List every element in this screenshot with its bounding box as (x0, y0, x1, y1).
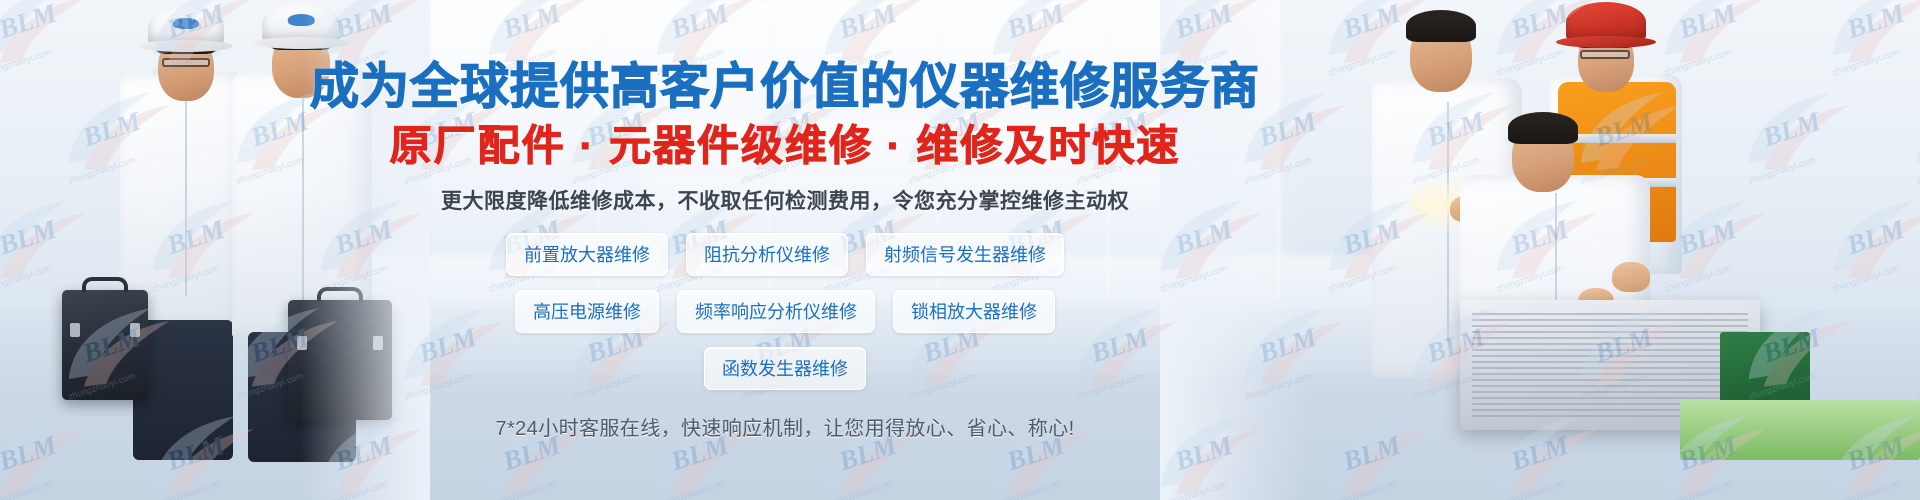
service-tag-chip[interactable]: 频率响应分析仪维修 (677, 290, 875, 333)
case-clasp (70, 323, 80, 337)
promo-banner: BLM zhongzhaoyi.com BLM zhongzhaoyi.com … (0, 0, 1920, 500)
helmet-brim (1556, 36, 1655, 48)
service-tag-chip[interactable]: 高压电源维修 (515, 290, 659, 333)
service-tag-list: 前置放大器维修阻抗分析仪维修射频信号发生器维修高压电源维修频率响应分析仪维修锁相… (435, 233, 1135, 390)
banner-subheadline: 原厂配件 · 元器件级维修 · 维修及时快速 (390, 124, 1181, 168)
banner-copy: 成为全球提供高客户价值的仪器维修服务商 原厂配件 · 元器件级维修 · 维修及时… (370, 0, 1200, 500)
service-tag-chip[interactable]: 锁相放大器维修 (893, 290, 1055, 333)
banner-headline: 成为全球提供高客户价值的仪器维修服务商 (310, 62, 1260, 113)
photo-group-right (1160, 0, 1920, 500)
hair (1508, 112, 1578, 144)
banner-tagline: 更大限度降低维修成本，不收取任何检测费用，令您充分掌控维修主动权 (441, 185, 1129, 215)
eyeglasses (1580, 50, 1630, 59)
service-tag-chip[interactable]: 函数发生器维修 (704, 347, 866, 390)
hair (1406, 10, 1476, 42)
safety-helmet-red (1566, 2, 1646, 42)
helmet-brim (139, 40, 233, 52)
service-tag-chip[interactable]: 前置放大器维修 (506, 233, 668, 276)
helmet-logo (173, 18, 199, 29)
lab-coat (120, 72, 250, 327)
case-handle (82, 277, 128, 292)
hand (1612, 262, 1650, 292)
tool-case-left (62, 290, 148, 400)
service-tag-chip[interactable]: 阻抗分析仪维修 (686, 233, 848, 276)
case-clasp (130, 323, 140, 337)
safety-helmet-white (148, 8, 224, 46)
trousers (133, 320, 233, 460)
service-tag-chip[interactable]: 射频信号发生器维修 (866, 233, 1064, 276)
work-bench-mat (1680, 400, 1920, 460)
eyeglasses (162, 58, 210, 67)
banner-footline: 7*24小时客服在线，快速响应机制，让您用得放心、省心、称心! (495, 412, 1074, 441)
